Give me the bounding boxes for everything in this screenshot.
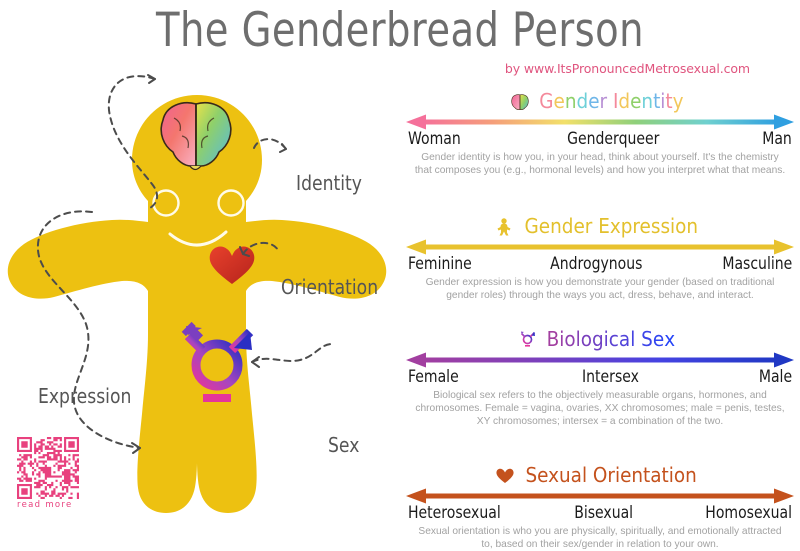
spectrum-description: Sexual orientation is who you are physic…	[412, 525, 788, 551]
spectrum-left-label: Female	[408, 367, 459, 386]
attribution-link[interactable]: by www.ItsPronouncedMetrosexual.com	[505, 61, 750, 76]
spectrum-title-gender-identity: Gender Identity	[400, 88, 800, 114]
brain-icon	[511, 93, 529, 111]
spectrum-left-label: Feminine	[408, 254, 472, 273]
spectrum-right-label: Masculine	[722, 254, 792, 273]
spectrum-center-label: Androgynous	[550, 254, 642, 273]
spectrum-sexual-orientation: Sexual Orientation HeterosexualBisexualH…	[400, 462, 800, 551]
spectrum-right-label: Homosexual	[705, 503, 792, 522]
spectrum-labels-biological-sex: FemaleIntersexMale	[400, 367, 800, 386]
spectrum-labels-sexual-orientation: HeterosexualBisexualHomosexual	[400, 503, 800, 522]
spectrum-left-label: Woman	[408, 129, 461, 148]
spectrum-gender-identity: Gender Identity WomanGenderqueerManGende…	[400, 88, 800, 177]
spectrum-arrow	[406, 114, 794, 130]
spectrum-title-gender-expression: Gender Expression	[400, 213, 800, 239]
spectrum-center-label: Genderqueer	[568, 129, 660, 148]
spectrum-arrow	[406, 488, 794, 504]
spectrum-center-label: Bisexual	[574, 503, 633, 522]
spectrum-biological-sex: Biological Sex FemaleIntersexMaleBiologi…	[400, 326, 800, 428]
spectrum-right-label: Man	[762, 129, 792, 148]
spectrum-labels-gender-identity: WomanGenderqueerMan	[400, 129, 800, 148]
heart-icon	[496, 467, 514, 485]
spectrum-description: Gender expression is how you demonstrate…	[412, 276, 788, 302]
spectrum-axis-sexual-orientation	[406, 488, 794, 504]
spectrum-arrow	[406, 352, 794, 368]
spectrum-title-sexual-orientation: Sexual Orientation	[400, 462, 800, 488]
transgender-symbol-icon	[519, 331, 537, 349]
annotation-expression: Expression	[38, 384, 131, 408]
gingerbread-person-icon	[495, 218, 513, 236]
spectrum-axis-biological-sex	[406, 352, 794, 368]
annotation-orientation: Orientation	[281, 275, 378, 299]
annotation-identity: Identity	[296, 171, 362, 195]
qr-code-icon[interactable]	[17, 437, 79, 499]
leader-sex	[252, 344, 332, 362]
spectrum-panels: Gender Identity WomanGenderqueerManGende…	[400, 88, 800, 551]
qr-read-more-label[interactable]: read more	[17, 500, 83, 510]
spectrum-title-biological-sex: Biological Sex	[400, 326, 800, 352]
spectrum-gender-expression: Gender Expression FeminineAndrogynousMas…	[400, 213, 800, 302]
spectrum-description: Gender identity is how you, in your head…	[412, 151, 788, 177]
spectrum-axis-gender-expression	[406, 239, 794, 255]
qr-code-block[interactable]: read more	[17, 437, 83, 510]
spectrum-center-label: Intersex	[582, 367, 639, 386]
infographic-canvas: The Genderbread Person by www.ItsPronoun…	[0, 0, 800, 518]
spectrum-left-label: Heterosexual	[408, 503, 501, 522]
spectrum-axis-gender-identity	[406, 114, 794, 130]
spectrum-description: Biological sex refers to the objectively…	[412, 389, 788, 428]
spectrum-right-label: Male	[759, 367, 792, 386]
spectrum-arrow	[406, 239, 794, 255]
annotation-sex: Sex	[328, 433, 359, 457]
page-title: The Genderbread Person	[72, 4, 728, 58]
spectrum-labels-gender-expression: FeminineAndrogynousMasculine	[400, 254, 800, 273]
